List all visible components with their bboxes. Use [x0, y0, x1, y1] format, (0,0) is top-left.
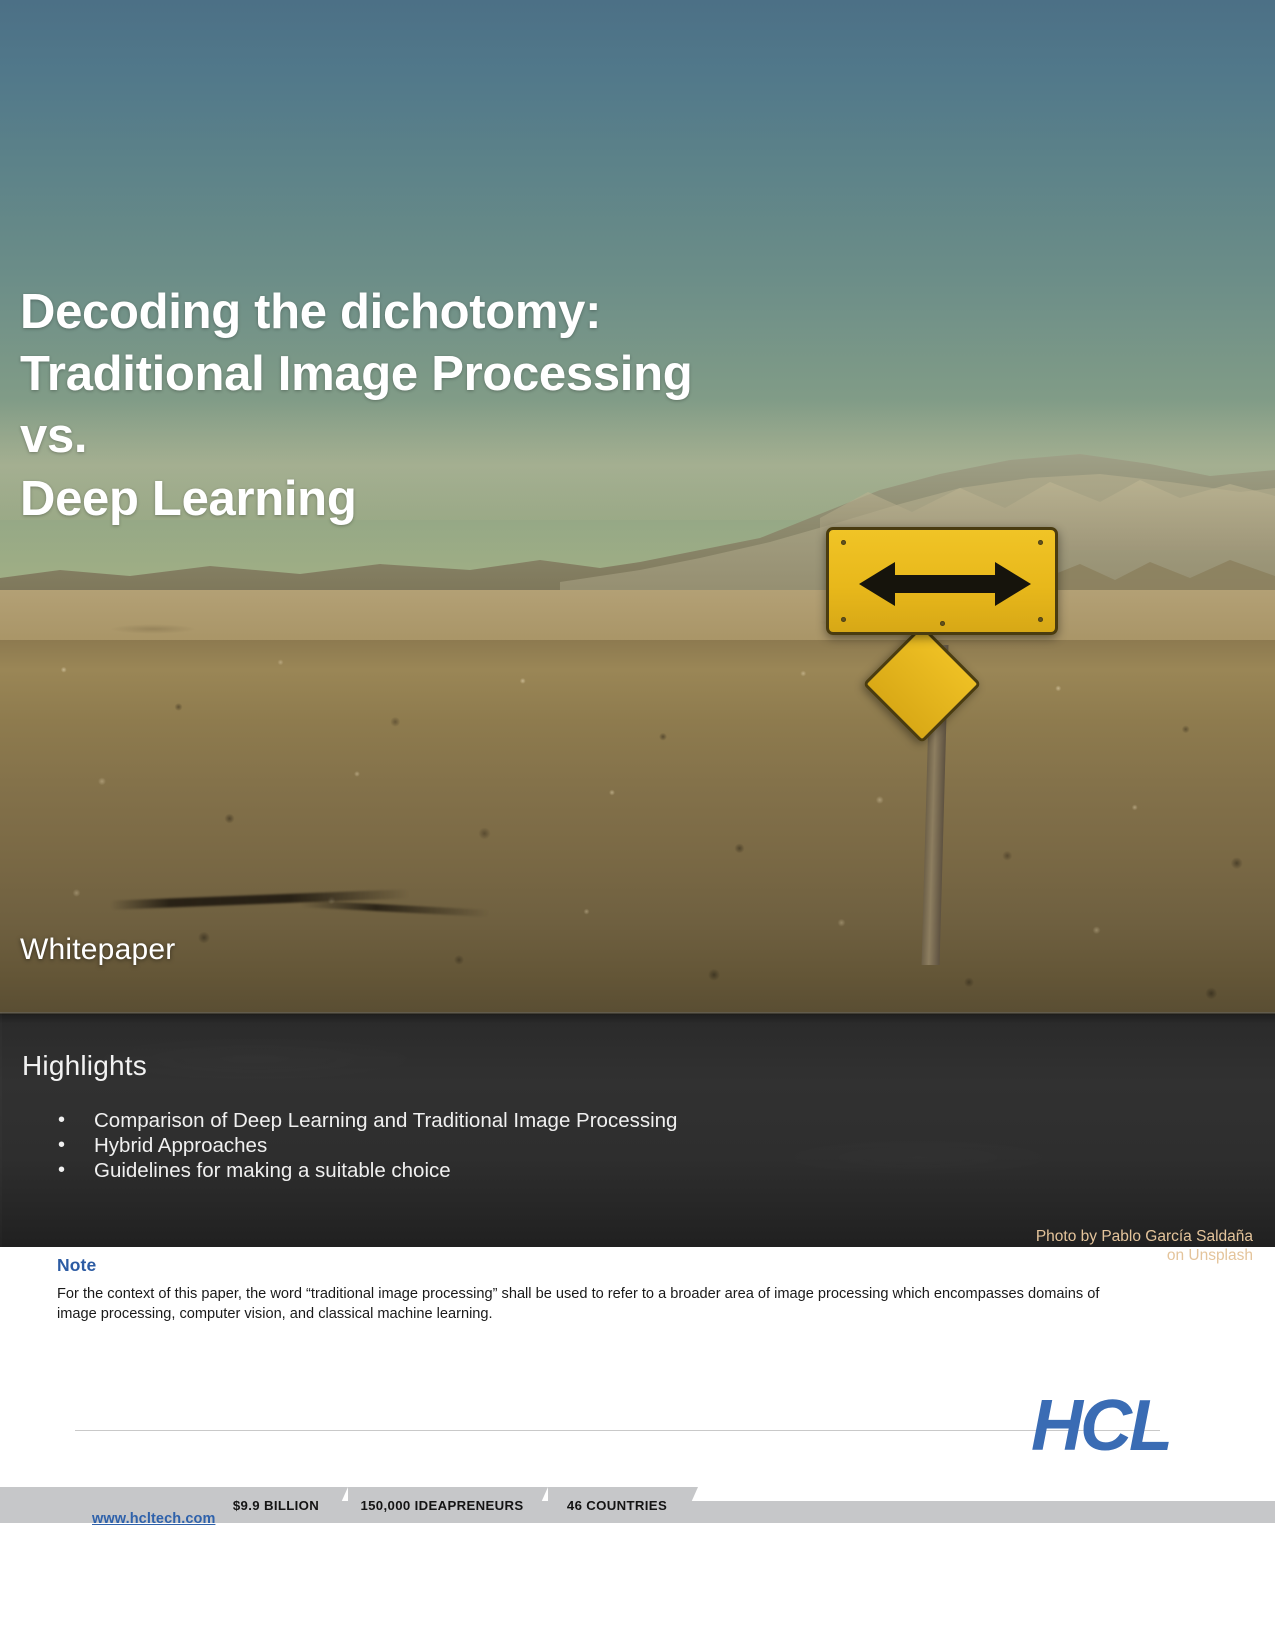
stat-segment-revenue: $9.9 BILLION [216, 1487, 348, 1523]
sign-bolt [1038, 540, 1043, 545]
double-arrow-road-sign-icon [826, 527, 1058, 635]
page-title: Decoding the dichotomy: Traditional Imag… [20, 281, 840, 530]
hcltech-website-link[interactable]: www.hcltech.com [92, 1511, 215, 1527]
title-line-4: Deep Learning [20, 468, 840, 530]
list-item: • Hybrid Approaches [46, 1133, 946, 1158]
list-item-label: Comparison of Deep Learning and Traditio… [94, 1109, 677, 1132]
list-item: • Comparison of Deep Learning and Tradit… [46, 1108, 946, 1133]
bullet-icon: • [58, 1108, 65, 1133]
stat-segment-countries: 46 COUNTRIES [548, 1487, 698, 1523]
title-line-3: vs. [20, 405, 840, 467]
whitepaper-cover-page: Decoding the dichotomy: Traditional Imag… [0, 0, 1275, 1650]
sign-bolt [1038, 617, 1043, 622]
note-heading: Note [57, 1255, 96, 1276]
list-item-label: Guidelines for making a suitable choice [94, 1159, 451, 1182]
title-line-2: Traditional Image Processing [20, 343, 840, 405]
sign-bolt [940, 621, 945, 626]
hcl-logo: HCL [1031, 1390, 1170, 1462]
photo-credit: Photo by Pablo García Saldaña on Unsplas… [833, 1227, 1253, 1265]
gravel-texture [0, 640, 1275, 1012]
note-body-text: For the context of this paper, the word … [57, 1285, 1119, 1324]
double-arrow-icon [859, 560, 1031, 608]
stat-segment-ideapreneurs: 150,000 IDEAPRENEURS [348, 1487, 548, 1523]
footer-divider [75, 1430, 1160, 1431]
photo-credit-line-2: on Unsplash [833, 1246, 1253, 1265]
road-sign [812, 515, 1072, 965]
bullet-icon: • [58, 1133, 65, 1158]
photo-credit-line-1: Photo by Pablo García Saldaña [833, 1227, 1253, 1246]
title-line-1: Decoding the dichotomy: [20, 281, 840, 343]
sign-bolt [841, 540, 846, 545]
footer-stats-banner: $9.9 BILLION 150,000 IDEAPRENEURS 46 COU… [0, 1487, 1275, 1531]
highlights-heading: Highlights [22, 1050, 147, 1082]
hero-photo: Decoding the dichotomy: Traditional Imag… [0, 0, 1275, 1012]
bullet-icon: • [58, 1158, 65, 1183]
diamond-warning-sign-icon [863, 625, 982, 744]
list-item-label: Hybrid Approaches [94, 1134, 267, 1157]
gravel-foreground [0, 640, 1275, 1012]
document-type-label: Whitepaper [20, 933, 175, 967]
highlights-list: • Comparison of Deep Learning and Tradit… [46, 1108, 946, 1183]
sign-bolt [841, 617, 846, 622]
list-item: • Guidelines for making a suitable choic… [46, 1158, 946, 1183]
